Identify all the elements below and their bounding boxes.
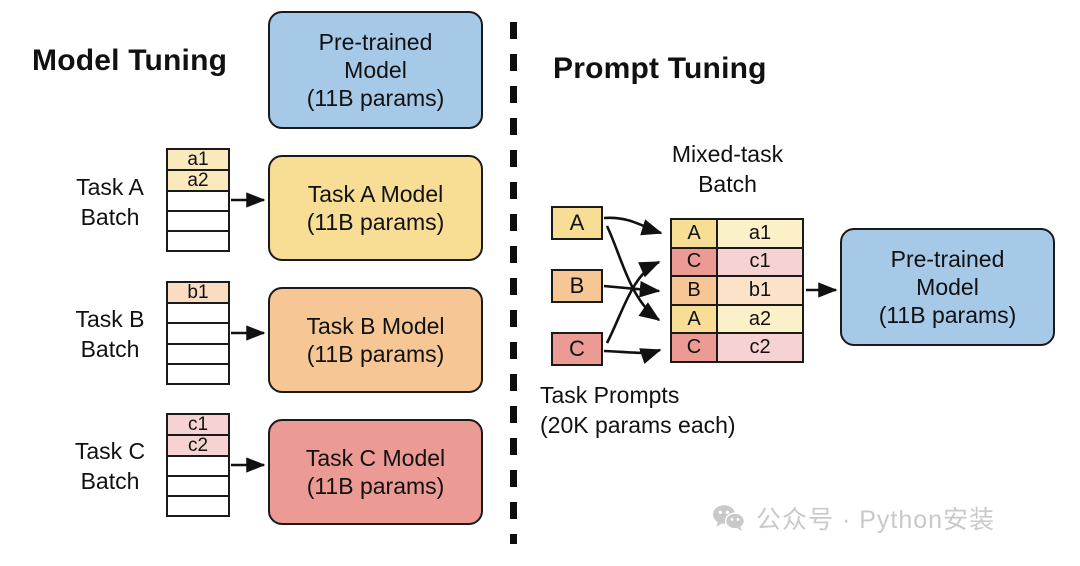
task-b-batch-cell bbox=[168, 345, 228, 365]
task-b-batch-label: Task B Batch bbox=[55, 305, 165, 365]
left-pretrained-line-1: Pre-trained bbox=[319, 28, 433, 56]
mixed-batch-row-value: a1 bbox=[718, 220, 802, 247]
task-prompts-caption-line-2: (20K params each) bbox=[540, 411, 736, 441]
task-a-batch-label: Task A Batch bbox=[55, 173, 165, 233]
task-a-batch-cell bbox=[168, 212, 228, 232]
mixed-batch-row-value: c1 bbox=[718, 249, 802, 276]
task-a-model-line-1: Task A Model bbox=[308, 180, 444, 208]
task-a-model-box: Task A Model (11B params) bbox=[268, 155, 483, 261]
mixed-task-batch-heading-line-2: Batch bbox=[620, 170, 835, 200]
mixed-batch-row: C c1 bbox=[672, 249, 802, 278]
task-c-batch-cell: c2 bbox=[168, 436, 228, 457]
mixed-batch-row-tag: B bbox=[672, 277, 718, 304]
mixed-task-batch-heading-line-1: Mixed-task bbox=[620, 140, 835, 170]
left-pretrained-line-2: Model bbox=[344, 56, 407, 84]
task-b-batch-grid: b1 bbox=[166, 281, 230, 385]
watermark: 公众号 · Python安装 bbox=[712, 500, 995, 536]
task-c-model-line-1: Task C Model bbox=[306, 444, 445, 472]
task-b-model-line-1: Task B Model bbox=[306, 312, 444, 340]
mixed-batch-row: C c2 bbox=[672, 334, 802, 361]
mixed-task-batch-heading: Mixed-task Batch bbox=[620, 140, 835, 200]
task-c-model-line-2: (11B params) bbox=[307, 472, 445, 500]
task-a-batch-cell bbox=[168, 192, 228, 212]
arrow-prompt-c-to-row-2 bbox=[607, 262, 659, 343]
mixed-batch-row-tag: A bbox=[672, 220, 718, 247]
mixed-batch-row: A a2 bbox=[672, 306, 802, 335]
task-a-batch-cell: a2 bbox=[168, 171, 228, 192]
task-c-batch-grid: c1 c2 bbox=[166, 413, 230, 517]
task-c-batch-label: Task C Batch bbox=[55, 437, 165, 497]
task-b-batch-cell: b1 bbox=[168, 283, 228, 304]
task-b-batch-cell bbox=[168, 365, 228, 383]
task-c-model-box: Task C Model (11B params) bbox=[268, 419, 483, 525]
task-a-batch-label-line-1: Task A bbox=[55, 173, 165, 203]
right-pretrained-line-1: Pre-trained bbox=[891, 245, 1005, 273]
arrow-prompt-c-to-row-5 bbox=[604, 350, 660, 353]
task-b-model-box: Task B Model (11B params) bbox=[268, 287, 483, 393]
arrow-prompt-b-to-row-3 bbox=[604, 286, 659, 291]
right-pretrained-model-box: Pre-trained Model (11B params) bbox=[840, 228, 1055, 346]
task-c-batch-label-line-1: Task C bbox=[55, 437, 165, 467]
mixed-batch-row-value: a2 bbox=[718, 306, 802, 333]
task-c-batch-label-line-2: Batch bbox=[55, 467, 165, 497]
left-pretrained-line-3: (11B params) bbox=[307, 84, 445, 112]
task-a-batch-cell: a1 bbox=[168, 150, 228, 171]
arrow-prompt-a-to-row-4 bbox=[607, 226, 659, 320]
task-c-batch-cell: c1 bbox=[168, 415, 228, 436]
right-pretrained-line-3: (11B params) bbox=[879, 301, 1017, 329]
left-pretrained-model-box: Pre-trained Model (11B params) bbox=[268, 11, 483, 129]
task-a-batch-cell bbox=[168, 232, 228, 250]
task-c-batch-cell bbox=[168, 497, 228, 515]
prompt-chip-b[interactable]: B bbox=[551, 269, 603, 303]
task-c-batch-cell bbox=[168, 477, 228, 497]
task-b-batch-label-line-2: Batch bbox=[55, 335, 165, 365]
task-prompts-caption-line-1: Task Prompts bbox=[540, 381, 736, 411]
task-b-batch-cell bbox=[168, 304, 228, 324]
task-b-batch-label-line-1: Task B bbox=[55, 305, 165, 335]
task-prompts-caption: Task Prompts (20K params each) bbox=[540, 381, 736, 441]
arrow-prompt-a-to-row-1 bbox=[604, 218, 661, 233]
task-a-model-line-2: (11B params) bbox=[307, 208, 445, 236]
diagram-canvas: Model Tuning Pre-trained Model (11B para… bbox=[0, 0, 1080, 566]
model-tuning-title: Model Tuning bbox=[32, 44, 227, 78]
task-c-batch-cell bbox=[168, 457, 228, 477]
watermark-text: 公众号 · Python安装 bbox=[756, 500, 995, 536]
mixed-batch-row-value: c2 bbox=[718, 334, 802, 361]
task-a-batch-grid: a1 a2 bbox=[166, 148, 230, 252]
mixed-batch-row: B b1 bbox=[672, 277, 802, 306]
task-b-batch-cell bbox=[168, 324, 228, 344]
mixed-batch-row-value: b1 bbox=[718, 277, 802, 304]
task-a-batch-label-line-2: Batch bbox=[55, 203, 165, 233]
mixed-task-batch-table: A a1 C c1 B b1 A a2 C c2 bbox=[670, 218, 804, 363]
mixed-batch-row-tag: C bbox=[672, 334, 718, 361]
mixed-batch-row-tag: A bbox=[672, 306, 718, 333]
panel-divider bbox=[510, 22, 517, 544]
task-b-model-line-2: (11B params) bbox=[307, 340, 445, 368]
prompt-chip-c[interactable]: C bbox=[551, 332, 603, 366]
prompt-chip-a[interactable]: A bbox=[551, 206, 603, 240]
prompt-tuning-title: Prompt Tuning bbox=[553, 52, 767, 86]
wechat-icon bbox=[712, 504, 746, 532]
mixed-batch-row-tag: C bbox=[672, 249, 718, 276]
right-pretrained-line-2: Model bbox=[916, 273, 979, 301]
mixed-batch-row: A a1 bbox=[672, 220, 802, 249]
